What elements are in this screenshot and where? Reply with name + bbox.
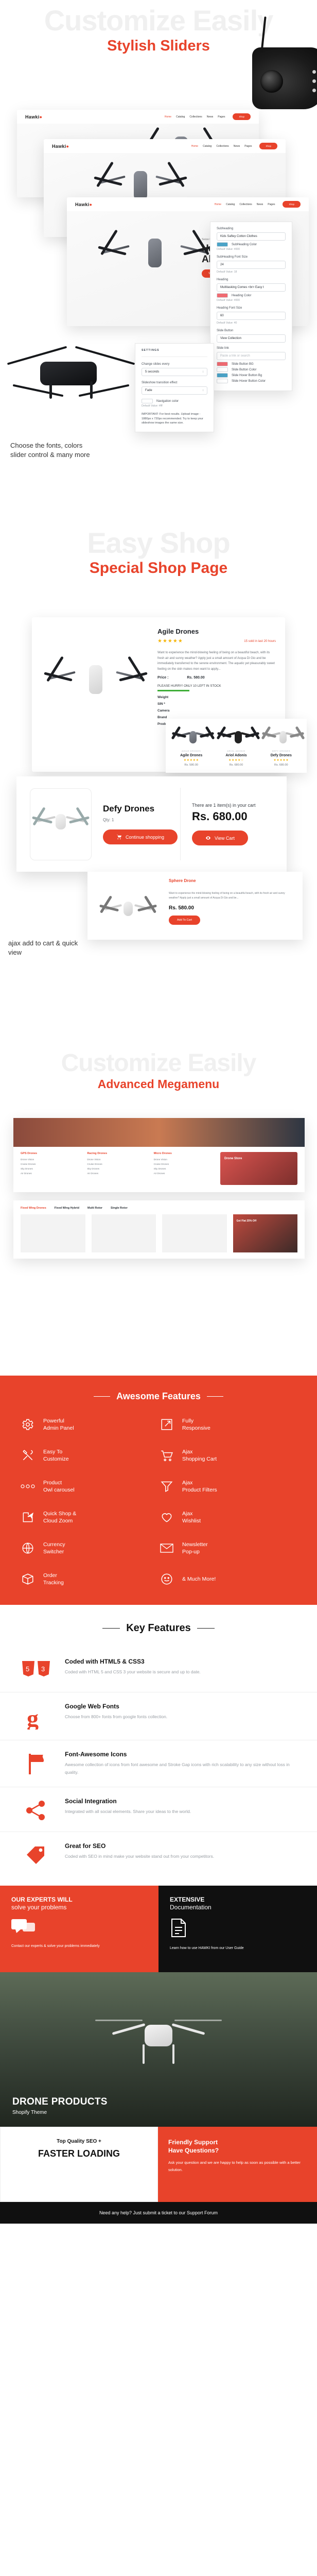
dots-icon [20,1478,36,1495]
price-row: Price : Rs. 580.00 [157,676,276,680]
megamenu-thumb[interactable] [21,1214,85,1252]
subheading-label: Subheading [217,227,286,230]
key-feature-html5-css3: 5 3 Coded with HTML5 & CSS3 Coded with H… [0,1648,317,1692]
cart-product-info: Defy Drones Qty: 1 Continue shopping [92,804,180,844]
funnel-icon [158,1478,175,1495]
nav-link-catalog[interactable]: Catalog [226,203,235,206]
megamenu-column: GPS Drones Drone Vision Cruise Drones Sk… [21,1152,82,1185]
slide-hover-bg-swatch[interactable] [217,373,228,378]
banner-title: DRONE PRODUCTS [12,2096,108,2108]
change-slides-label: Change slides every [142,363,207,366]
megamenu-panel-1: GPS Drones Drone Vision Cruise Drones Sk… [13,1118,305,1192]
brand-logo: Hawki● [25,114,42,120]
megamenu-item[interactable]: Drone Vision [87,1158,148,1162]
nav-link-collections[interactable]: Collections [216,145,228,148]
mock-nav-links: Home Catalog Collections News Pages Shop [165,113,251,120]
megamenu-item[interactable]: Air Drones [87,1172,148,1176]
heading-special-shop-page: Special Shop Page [0,560,317,577]
controller-button [312,89,316,92]
feature-currency-switcher: Currency Switcher [20,1540,158,1556]
quick-view-title: Sphere Drone [169,878,294,883]
product-thumbnail [169,725,214,750]
ghost-heading-customize-easily: Customize Easily [0,0,317,35]
meta-weight: Weight [157,696,276,699]
key-feature-text: Social Integration Integrated with all s… [65,1798,191,1816]
brand-logo: Hawki● [75,202,92,207]
support-panel: Friendly Support Have Questions? Ask you… [158,2127,317,2202]
footer-support-strip: Need any help? Just submit a ticket to o… [0,2202,317,2224]
dark-drone-photo [9,330,133,422]
key-feature-social-integration: Social Integration Integrated with all s… [0,1787,317,1832]
mock-navbar: Hawki● Home Catalog Collections News Pag… [17,110,259,124]
heading-color-row[interactable]: Heading Color [217,293,286,298]
key-feature-font-awesome-icons: Font-Awesome Icons Awesome collection of… [0,1740,317,1787]
product-vendor: DEFY DRONES [259,750,304,752]
nav-link-home[interactable]: Home [191,145,198,148]
product-name: Agile Drones [157,628,276,635]
slide-button-color-row[interactable]: Slide Button Color [217,367,286,372]
megamenu-item[interactable]: Air Drones [154,1172,215,1176]
cart-items-count: There are 1 item(s) in your cart [192,803,273,808]
drone-illustration [101,221,209,303]
key-feature-desc: Coded with HTML 5 and CSS 3 your website… [65,1668,201,1676]
feature-ajax-product-filters: Ajax Product Filters [158,1478,297,1495]
star-rating: ★★★★★ [157,638,183,644]
meta-camera: Camera [157,709,276,713]
tools-icon [20,1447,36,1464]
slideshow-settings-panel: SETTINGS Change slides every 5 seconds↕ … [135,343,214,432]
product-name: Agile Drones [169,754,214,757]
megamenu-item[interactable]: Drone Vision [154,1158,215,1162]
landing-page: Customize Easily Stylish Sliders Hawki● … [0,0,317,2224]
feature-quick-shop-cloud-zoom: Quick Shop & Cloud Zoom [20,1509,158,1526]
share-nodes-icon [17,1798,55,1821]
megamenu-column-head: Racing Drones [87,1152,148,1155]
star-rating: ★★★★★ [259,758,304,762]
nav-link-news[interactable]: News [257,203,263,206]
svg-text:g: g [27,1705,39,1730]
megamenu-item[interactable]: Cruise Drones [154,1162,215,1167]
heading-color-swatch[interactable] [217,293,228,298]
megamenu-column: Racing Drones Drone Vision Cruise Drones… [87,1152,148,1185]
drone-illustration [47,648,145,725]
cart-total: Rs. 680.00 [192,810,273,823]
slide-button-label: Slide Button [217,329,286,332]
feature-label: Product Owl carousel [43,1479,75,1494]
feature-label: Ajax Wishlist [182,1510,201,1524]
megamenu-tab-fixed-wing[interactable]: Fixed Wing Drones [21,1207,46,1210]
shop-button[interactable]: Shop [233,113,251,120]
add-to-cart-button[interactable]: Add To Cart [169,916,200,925]
navigation-color-default: Default Value: #fff [142,404,207,408]
cart-product-name: Defy Drones [103,804,180,814]
key-feature-title: Great for SEO [65,1842,214,1850]
slide-button-bg-label: Slide Button BG [232,363,254,366]
subheading-color-default: Default Value: #000 [217,248,286,251]
related-product[interactable]: ARIOL ADONIS Ariol Adonis ★★★★☆ Rs. 680.… [214,725,258,767]
cart-quantity: Qty: 1 [103,818,180,822]
key-feature-title: Social Integration [65,1798,191,1805]
features-grid: Powerful Admin Panel Fully Responsive Ea… [0,1416,317,1587]
megamenu-hero-banner [13,1118,305,1147]
seo-line1: Top Quality SEO + [10,2139,148,2144]
nav-link-pages[interactable]: Pages [244,145,252,148]
subheading-size-default: Default Value: 18 [217,270,286,274]
drone-hero-illustration [104,2010,213,2072]
related-product[interactable]: AGILE DRONES Agile Drones ★★★★★ Rs. 580.… [169,725,214,767]
feature-label: Fully Responsive [182,1417,210,1432]
price-label: Price : [157,676,168,680]
feature-product-owl-carousel: Product Owl carousel [20,1478,158,1495]
documentation-panel: EXTENSIVE Documentation Learn how to use… [158,1886,317,1972]
nav-link-home[interactable]: Home [215,203,221,206]
ghost-heading-customize-easily-2: Customize Easily [0,1046,317,1076]
flag-icon [17,1751,55,1775]
key-feature-great-for-seo: Great for SEO Coded with SEO in mind mak… [0,1832,317,1876]
key-feature-desc: Integrated with all social elements. Sha… [65,1808,191,1816]
quick-view-description: Want to experience the mind-blowing feel… [169,891,294,901]
subheading-size-input[interactable]: 24 [217,261,286,269]
meta-sin: SIN * [157,702,276,706]
nav-link-catalog[interactable]: Catalog [203,145,212,148]
html5-css3-icon: 5 3 [17,1658,55,1682]
svg-text:3: 3 [41,1665,45,1673]
feature-label: & Much More! [182,1575,216,1583]
key-feature-desc: Coded with SEO in mind make your website… [65,1853,214,1860]
rating-row: ★★★★★ 15 sold in last 20 hours [157,638,276,644]
product-name: Defy Drones [259,754,304,757]
smile-icon [158,1571,175,1587]
megamenu-item[interactable]: Sky Drones [21,1167,82,1172]
box-icon [20,1571,36,1587]
feature-newsletter-popup: Newsletter Pop-up [158,1540,297,1556]
quick-view-thumbnail [96,878,162,933]
feature-label: Order Tracking [43,1572,64,1586]
key-feature-desc: Choose from 800+ fonts from google fonts… [65,1713,167,1721]
heading-size-input[interactable]: 60 [217,312,286,320]
slide-settings-panel: Subheading Kids Saftey Cotton Clothes Su… [210,222,292,391]
continue-shopping-button[interactable]: Continue shopping [103,829,178,844]
section-advanced-megamenu: Customize Easily Advanced Megamenu GPS D… [0,1046,317,1376]
settings-important-note: IMPORTANT: For best results. Upload imag… [142,412,207,426]
subheading-input[interactable]: Kids Saftey Cotton Clothes [217,232,286,241]
nav-link-catalog[interactable]: Catalog [176,115,185,118]
slide-button-bg-row[interactable]: Slide Button BG [217,362,286,366]
key-feature-title: Google Web Fonts [65,1703,167,1710]
subheading-color-swatch[interactable] [217,242,228,247]
mock-nav-links: Home Catalog Collections News Pages Shop [215,201,301,208]
megamenu-item[interactable]: Air Drones [21,1172,82,1176]
megamenu-item[interactable]: Sky Drones [154,1167,215,1172]
navigation-color-swatch[interactable] [142,399,153,403]
docs-heading: EXTENSIVE Documentation [170,1896,306,1912]
section-experts-docs: OUR EXPERTS WILL solve your problems Con… [0,1886,317,1972]
gear-icon [20,1416,36,1433]
expand-icon [158,1416,175,1433]
section-key-features: Key Features 5 3 Coded with HTML5 & CSS3… [0,1605,317,1886]
feature-easy-to-customize: Easy To Customize [20,1447,158,1464]
key-feature-text: Google Web Fonts Choose from 800+ fonts … [65,1703,167,1721]
nav-link-collections[interactable]: Collections [239,203,252,206]
seo-tag-icon [17,1842,55,1866]
awesome-features-title: Awesome Features [0,1391,317,1402]
docs-caption: Learn how to use HAWKI from our User Gui… [170,1945,306,1952]
megamenu-item[interactable]: Drone Vision [21,1158,82,1162]
dash-left [102,1628,120,1629]
slide-button-bg-swatch[interactable] [217,362,228,366]
heading-advanced-megamenu: Advanced Megamenu [0,1078,317,1091]
megamenu-promo2-label: Get Flat 25% Off [237,1219,257,1223]
product-name: Ariol Adonis [214,754,258,757]
mock-navbar: Hawki● Home Catalog Collections News Pag… [44,139,286,153]
cart-popup-card: Defy Drones Qty: 1 Continue shopping The… [16,776,287,872]
product-price: Rs. 680.00 [259,764,304,767]
document-icon [170,1918,306,1940]
heading-size-default: Default Value: 40 [217,321,286,325]
chevron-updown-icon: ↕ [202,389,204,392]
dash-left [94,1396,110,1397]
share-doc-icon [20,1509,36,1526]
heading-label: Heading [217,278,286,281]
product-description: Want to experience the mind-blowing feel… [157,650,276,672]
mock-nav-links: Home Catalog Collections News Pages Shop [191,143,277,149]
remote-controller-photo [252,47,317,109]
seo-panel: Top Quality SEO + FASTER LOADING [0,2127,158,2202]
key-feature-text: Font-Awesome Icons Awesome collection of… [65,1751,300,1776]
megamenu-item[interactable]: Cruise Drones [87,1162,148,1167]
quick-view-info: Sphere Drone Want to experience the mind… [169,878,294,933]
cart-product-thumbnail [30,788,92,860]
section-awesome-features: Awesome Features Powerful Admin Panel Fu… [0,1376,317,1605]
feature-label: Newsletter Pop-up [182,1541,208,1555]
chat-bubbles-icon [11,1918,147,1938]
product-vendor: ARIOL ADONIS [214,750,258,752]
megamenu-tabs: Fixed Wing Drones Fixed Wing Hybrid Mult… [21,1207,297,1210]
megamenu-thumb[interactable] [92,1214,156,1252]
cart-summary: There are 1 item(s) in your cart Rs. 680… [181,803,273,845]
stock-warning: PLEASE HURRY! ONLY 10 LEFT IN STOCK [157,684,276,688]
banner-caption: DRONE PRODUCTS Shopify Theme [12,2096,108,2115]
slide-link-label: Slide link [217,347,286,350]
heart-icon [158,1509,175,1526]
mock-navbar: Hawki● Home Catalog Collections News Pag… [67,197,309,211]
navigation-color-row[interactable]: Navigation color [142,399,207,403]
experts-panel: OUR EXPERTS WILL solve your problems Con… [0,1886,158,1972]
feature-powerful-admin-panel: Powerful Admin Panel [20,1416,158,1433]
shop-button[interactable]: Shop [283,201,301,208]
slide-hover-color-label: Slide Hover Button Color [232,380,266,383]
cart-icon [116,834,122,840]
seo-line2: FASTER LOADING [10,2148,148,2159]
megamenu-item[interactable]: Cruise Drones [21,1162,82,1167]
shop-button[interactable]: Shop [259,143,277,149]
product-thumbnail [214,725,258,750]
key-feature-title: Coded with HTML5 & CSS3 [65,1658,201,1665]
section-seo-support: Top Quality SEO + FASTER LOADING Friendl… [0,2127,317,2202]
feature-much-more: & Much More! [158,1571,297,1587]
slide-hover-bg-label: Slide Hover Button Bg [232,374,262,377]
slide-hover-color-swatch[interactable] [217,379,228,383]
controller-button [312,70,316,74]
key-feature-text: Coded with HTML5 & CSS3 Coded with HTML … [65,1658,201,1676]
cart-icon [158,1447,175,1464]
product-vendor: AGILE DRONES [169,750,214,752]
heading-color-label: Heading Color [232,294,251,297]
change-slides-select[interactable]: 5 seconds↕ [142,368,207,376]
feature-label: Powerful Admin Panel [43,1417,74,1432]
joystick [260,70,283,93]
transition-effect-label: Slideshow transition effect [142,381,207,384]
slide-button-color-label: Slide Button Color [232,368,256,371]
settings-title: SETTINGS [142,349,207,357]
globe-icon [20,1540,36,1556]
key-features-title: Key Features [0,1622,317,1634]
nav-link-home[interactable]: Home [165,115,171,118]
dash-right [197,1628,215,1629]
section-drone-products-banner: DRONE PRODUCTS Shopify Theme [0,1972,317,2127]
brand-logo: Hawki● [52,144,69,149]
megamenu-column: Micro Drones Drone Vision Cruise Drones … [154,1152,215,1185]
heading-color-default: Default Value: #000 [217,299,286,302]
related-product[interactable]: DEFY DRONES Defy Drones ★★★★★ Rs. 680.00 [259,725,304,767]
feature-order-tracking: Order Tracking [20,1571,158,1587]
footer-text: Need any help? Just submit a ticket to o… [99,2210,218,2215]
slide-button-color-swatch[interactable] [217,367,228,372]
slide-hover-color-row[interactable]: Slide Hover Button Color [217,379,286,383]
megamenu-column-head: GPS Drones [21,1152,82,1155]
dash-right [207,1396,223,1397]
megamenu-tab-hybrid[interactable]: Fixed Wing Hybrid [55,1207,79,1210]
stock-bar [157,690,189,691]
view-cart-label: View Cart [215,836,235,841]
subheading-color-label: SubHeading Color [232,243,257,246]
slide-hover-bg-row[interactable]: Slide Hover Button Bg [217,373,286,378]
megamenu-tab-multi-rotor[interactable]: Multi Rotor [87,1207,102,1210]
feature-label: Quick Shop & Cloud Zoom [43,1510,76,1524]
feature-ajax-wishlist: Ajax Wishlist [158,1509,297,1526]
experts-heading: OUR EXPERTS WILL solve your problems [11,1896,147,1912]
related-products-card: AGILE DRONES Agile Drones ★★★★★ Rs. 580.… [166,719,307,773]
slide-link-input[interactable]: Paste a link or search [217,352,286,360]
feature-fully-responsive: Fully Responsive [158,1416,297,1433]
feature-label: Ajax Product Filters [182,1479,217,1494]
google-g-icon: g [17,1703,55,1730]
key-feature-desc: Awesome collection of icons from font aw… [65,1761,300,1776]
experts-caption: Contact our experts & solve your problem… [11,1943,147,1950]
heading-input[interactable]: Multitasking Comes <br> Easy t [217,283,286,292]
navigation-color-label: Navigation color [156,400,179,403]
feature-label: Easy To Customize [43,1448,69,1463]
sold-badge: 15 sold in last 20 hours [244,640,276,643]
section2-left-copy: ajax add to cart & quick view [8,939,85,957]
megamenu-promo-thumb[interactable]: Get Flat 25% Off [233,1214,298,1252]
nav-link-collections[interactable]: Collections [189,115,202,118]
product-gallery [32,617,154,772]
transition-effect-select[interactable]: Fade↕ [142,386,207,395]
product-price: Rs. 680.00 [214,764,258,767]
megamenu-tab-single-rotor[interactable]: Single Rotor [111,1207,128,1210]
product-price: Rs. 580.00 [169,764,214,767]
ghost-heading-easy-shop: Easy Shop [0,526,317,557]
view-cart-button[interactable]: View Cart [192,831,248,845]
megamenu-panel-2: Fixed Wing Drones Fixed Wing Hybrid Mult… [13,1200,305,1259]
controller-button [312,79,316,83]
quick-view-card: Sphere Drone Want to experience the mind… [87,872,303,940]
feature-ajax-shopping-cart: Ajax Shopping Cart [158,1447,297,1464]
megamenu-thumb-grid: Get Flat 25% Off [21,1214,297,1252]
megamenu-columns: GPS Drones Drone Vision Cruise Drones Sk… [13,1147,305,1192]
nav-link-news[interactable]: News [207,115,214,118]
key-feature-title: Font-Awesome Icons [65,1751,300,1758]
feature-label: Ajax Shopping Cart [182,1448,217,1463]
megamenu-thumb[interactable] [162,1214,227,1252]
section1-left-copy: Choose the fonts, colors slider control … [10,441,93,459]
section-stylish-sliders: Customize Easily Stylish Sliders Hawki● … [0,0,317,526]
nav-link-pages[interactable]: Pages [268,203,275,206]
price-value: Rs. 580.00 [187,676,204,680]
support-text: Ask your question and we are happy to he… [168,2159,307,2173]
key-feature-text: Great for SEO Coded with SEO in mind mak… [65,1842,214,1860]
svg-text:5: 5 [26,1665,29,1673]
product-thumbnail [259,725,304,750]
key-feature-google-web-fonts: g Google Web Fonts Choose from 800+ font… [0,1692,317,1740]
subheading-color-row[interactable]: SubHeading Color [217,242,286,247]
envelope-icon [158,1540,175,1556]
feature-label: Currency Switcher [43,1541,65,1555]
megamenu-promo-banner[interactable]: Drone Store [220,1152,297,1185]
slide-button-input[interactable]: View Collection [217,334,286,343]
chevron-updown-icon: ↕ [202,370,204,374]
subheading-size-label: SubHeading Font Size [217,256,286,259]
support-heading: Friendly Support Have Questions? [168,2138,307,2155]
nav-link-news[interactable]: News [234,145,240,148]
megamenu-column-head: Micro Drones [154,1152,215,1155]
star-rating: ★★★★☆ [214,758,258,762]
heading-size-label: Heading Font Size [217,307,286,310]
eye-icon [205,835,211,841]
continue-shopping-label: Continue shopping [126,835,164,840]
megamenu-promo-label: Drone Store [224,1157,242,1160]
star-rating: ★★★★★ [169,758,214,762]
megamenu-item[interactable]: Sky Drones [87,1167,148,1172]
quick-view-price: Rs. 580.00 [169,905,294,911]
section-special-shop-page: Easy Shop Special Shop Page Agile Drones… [0,526,317,1046]
banner-subtitle: Shopify Theme [12,2110,108,2115]
nav-link-pages[interactable]: Pages [218,115,225,118]
